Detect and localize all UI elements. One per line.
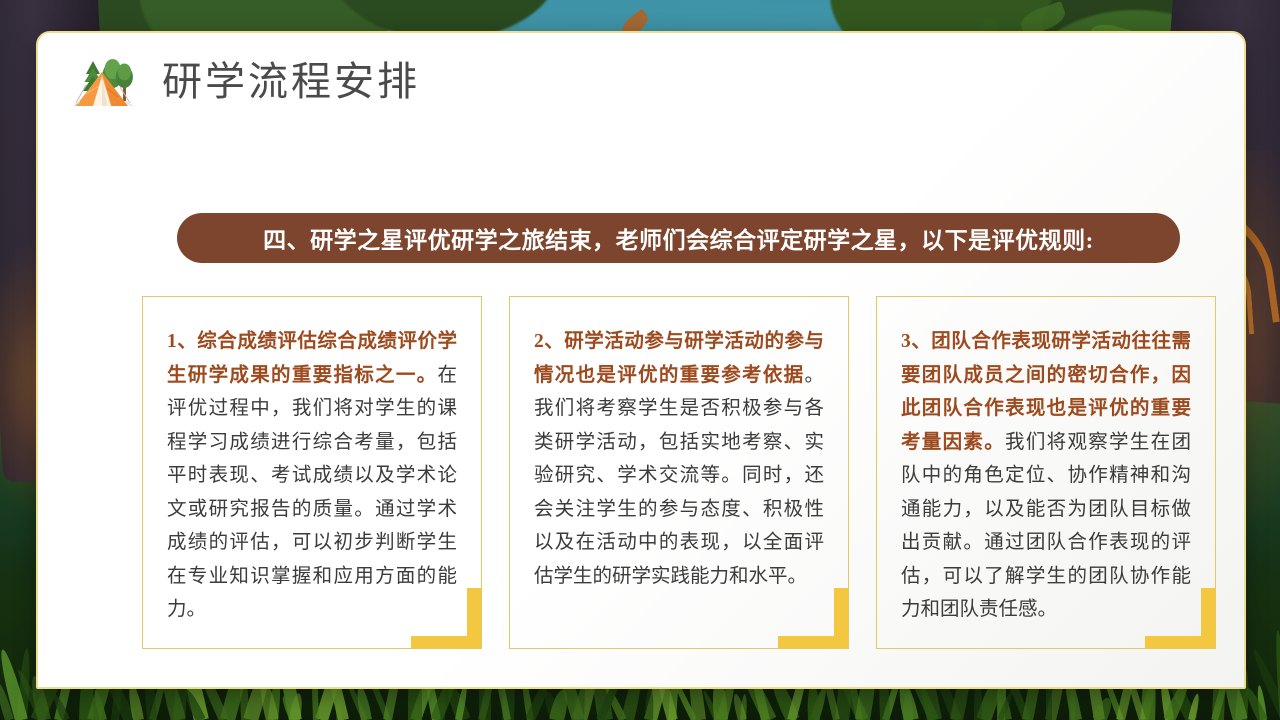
page-header: 研学流程安排 — [66, 49, 420, 115]
content-panel: 研学流程安排 四、研学之星评优研学之旅结束，老师们会综合评定研学之星，以下是评优… — [36, 31, 1246, 689]
rule-card-2-text: 2、研学活动参与研学活动的参与情况也是评优的重要参考依据。我们将考察学生是否积极… — [534, 325, 824, 593]
rule-card-1-body: 在评优过程中，我们将对学生的课程学习成绩进行综合考量，包括平时表现、考试成绩以及… — [167, 365, 457, 621]
camping-tent-icon — [66, 49, 140, 115]
rule-card-3-text: 3、团队合作表现研学活动往往需要团队成员之间的密切合作，因此团队合作表现也是评优… — [901, 325, 1191, 627]
page-title: 研学流程安排 — [162, 62, 420, 102]
rule-card-2[interactable]: 2、研学活动参与研学活动的参与情况也是评优的重要参考依据。我们将考察学生是否积极… — [509, 296, 849, 649]
card-corner-accent — [778, 588, 849, 649]
rule-card-1[interactable]: 1、综合成绩评估综合成绩评价学生研学成果的重要指标之一。在评优过程中，我们将对学… — [142, 296, 482, 649]
rule-card-3[interactable]: 3、团队合作表现研学活动往往需要团队成员之间的密切合作，因此团队合作表现也是评优… — [876, 296, 1216, 649]
slide-root: 研学流程安排 四、研学之星评优研学之旅结束，老师们会综合评定研学之星，以下是评优… — [0, 0, 1280, 720]
section-banner: 四、研学之星评优研学之旅结束，老师们会综合评定研学之星，以下是评优规则: — [177, 213, 1180, 263]
rule-card-2-body: 。我们将考察学生是否积极参与各类研学活动，包括实地考察、实验研究、学术交流等。同… — [534, 365, 824, 587]
rule-card-1-text: 1、综合成绩评估综合成绩评价学生研学成果的重要指标之一。在评优过程中，我们将对学… — [167, 325, 457, 627]
rule-card-3-body: 我们将观察学生在团队中的角色定位、协作精神和沟通能力，以及能否为团队目标做出贡献… — [901, 432, 1191, 621]
rules-card-row: 1、综合成绩评估综合成绩评价学生研学成果的重要指标之一。在评优过程中，我们将对学… — [142, 296, 1216, 649]
section-banner-text: 四、研学之星评优研学之旅结束，老师们会综合评定研学之星，以下是评优规则: — [263, 221, 1094, 255]
rule-card-2-highlight: 2、研学活动参与研学活动的参与情况也是评优的重要参考依据 — [534, 331, 824, 386]
rule-card-1-highlight: 1、综合成绩评估综合成绩评价学生研学成果的重要指标之一。 — [167, 331, 457, 386]
grass-blade — [807, 684, 820, 720]
